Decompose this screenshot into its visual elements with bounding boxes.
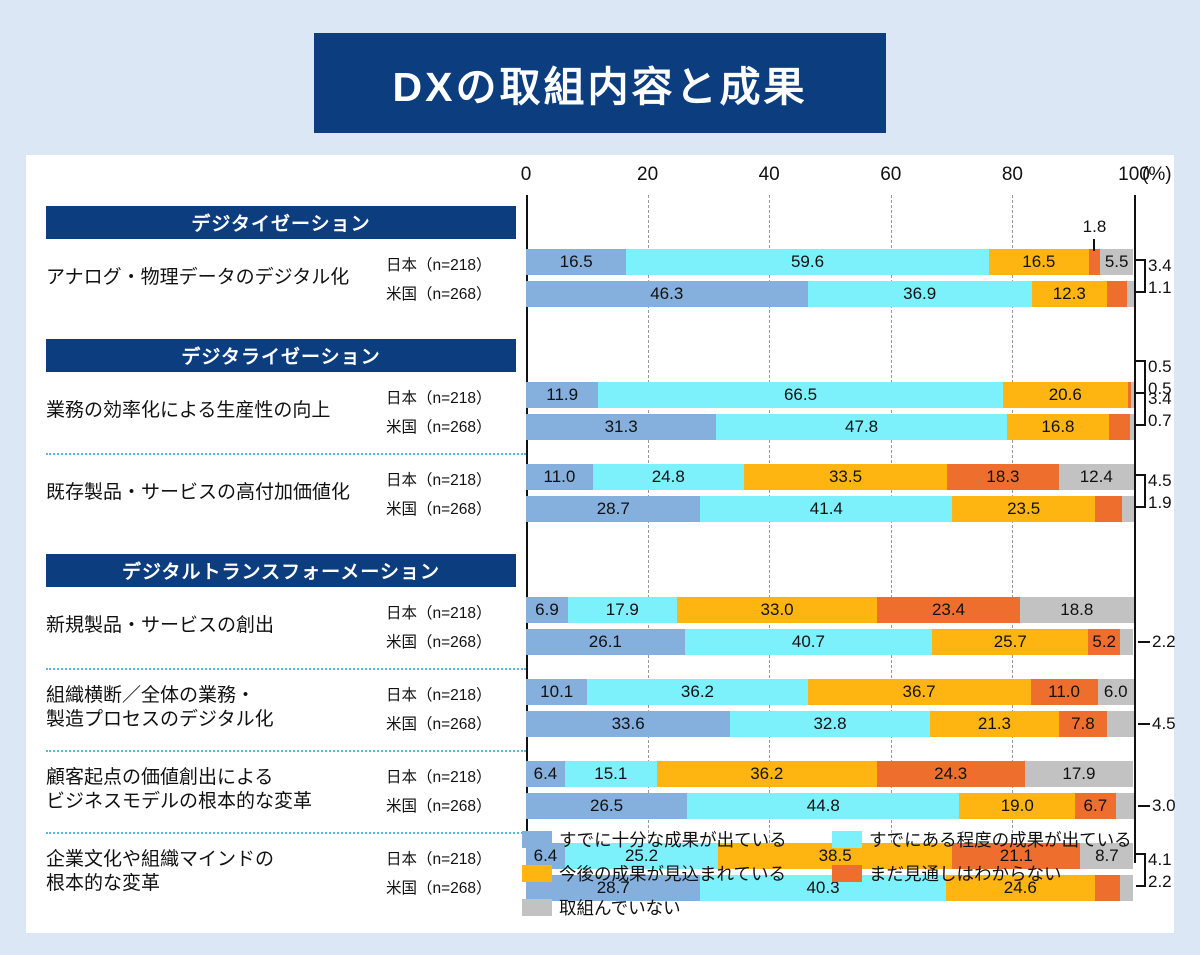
section-header-1: デジタイゼーション [46, 206, 516, 239]
row-separator [46, 832, 526, 834]
bar-segment [1107, 281, 1128, 307]
value-bracket [1136, 474, 1146, 508]
question-label-block: 企業文化や組織マインドの根本的な変革日本（n=218）米国（n=268） [46, 843, 516, 901]
group-labels: 日本（n=218）米国（n=268） [386, 601, 516, 652]
legend-swatch [832, 831, 862, 848]
bar-row: 28.741.423.5 [526, 496, 1136, 522]
group-label: 米国（n=268） [386, 497, 492, 519]
legend-swatch [522, 865, 552, 882]
chart-card: 020406080100(%) デジタイゼーションアナログ・物理データのデジタル… [26, 155, 1174, 933]
bar-segment: 26.1 [526, 629, 685, 655]
bar-segment [1131, 382, 1134, 408]
value-outside-label: 4.5 [1148, 471, 1172, 491]
bar-segment: 40.7 [685, 629, 932, 655]
bar-segment: 16.5 [526, 249, 626, 275]
leader-line [1138, 805, 1150, 807]
bar-segment: 36.9 [808, 281, 1032, 307]
bar-row: 33.632.821.37.8 [526, 711, 1136, 737]
legend-label: すでに十分な成果が出ている [559, 827, 787, 852]
page-title: DXの取組内容と成果 [393, 53, 808, 113]
value-outside-label: 1.9 [1148, 493, 1172, 513]
question-label: 組織横断／全体の業務・製造プロセスのデジタル化 [46, 684, 386, 733]
bar-segment [1120, 629, 1133, 655]
bar-segment: 5.5 [1100, 249, 1133, 275]
bar-segment: 12.4 [1059, 464, 1134, 490]
bar-segment: 6.9 [526, 597, 568, 623]
callout-stem [1093, 239, 1095, 251]
legend-item: 取組んでいない [522, 895, 832, 920]
bar-segment: 59.6 [626, 249, 988, 275]
legend-item: すでに十分な成果が出ている [522, 827, 832, 852]
value-outside-label: 0.7 [1148, 411, 1172, 431]
legend-swatch [522, 899, 552, 916]
bar-segment: 31.3 [526, 414, 716, 440]
question-label: 顧客起点の価値創出によるビジネスモデルの根本的な変革 [46, 766, 386, 815]
legend-item: すでにある程度の成果が出ている [832, 827, 1162, 852]
bar-row: 16.559.616.55.5 [526, 249, 1136, 275]
bar-segment: 26.5 [526, 793, 687, 819]
question-label-block: 新規製品・サービスの創出日本（n=218）米国（n=268） [46, 597, 516, 655]
group-label: 日本（n=218） [386, 601, 492, 623]
group-label: 米国（n=268） [386, 712, 492, 734]
bar-segment: 10.1 [526, 679, 587, 705]
chart-title-banner: DXの取組内容と成果 [314, 33, 886, 133]
value-outside-label: 2.2 [1138, 632, 1176, 652]
legend-swatch [522, 831, 552, 848]
bar-segment: 5.2 [1088, 629, 1120, 655]
bar-segment: 16.8 [1007, 414, 1109, 440]
legend-item: まだ見通しはわからない [832, 861, 1162, 886]
bar-segment: 20.6 [1003, 382, 1128, 408]
bar-segment: 24.8 [593, 464, 744, 490]
group-labels: 日本（n=218）米国（n=268） [386, 765, 516, 816]
group-label: 米国（n=268） [386, 415, 492, 437]
chart-legend: すでに十分な成果が出ているすでにある程度の成果が出ている今後の成果が見込まれてい… [522, 827, 1162, 920]
leader-line [1138, 723, 1150, 725]
bar-segment: 66.5 [598, 382, 1002, 408]
bar-segment [1116, 793, 1134, 819]
bar-segment: 6.7 [1075, 793, 1116, 819]
bar-segment: 28.7 [526, 496, 700, 522]
group-labels: 日本（n=218）米国（n=268） [386, 847, 516, 898]
bar-segment: 23.4 [877, 597, 1019, 623]
question-label: 既存製品・サービスの高付加価値化 [46, 481, 386, 505]
value-outside-label: 1.1 [1148, 278, 1172, 298]
question-label-block: 既存製品・サービスの高付加価値化日本（n=218）米国（n=268） [46, 464, 516, 522]
section-header-label: デジタルトランスフォーメーション [122, 557, 440, 584]
bar-segment: 32.8 [730, 711, 929, 737]
question-label-block: 組織横断／全体の業務・製造プロセスのデジタル化日本（n=218）米国（n=268… [46, 679, 516, 737]
bar-segment: 7.8 [1059, 711, 1106, 737]
bar-row: 6.415.136.224.317.9 [526, 761, 1136, 787]
section-header-3: デジタルトランスフォーメーション [46, 554, 516, 587]
group-label: 米国（n=268） [386, 794, 492, 816]
bar-segment: 6.4 [526, 761, 565, 787]
bar-segment [1122, 496, 1134, 522]
axis-tick-60: 60 [880, 164, 901, 186]
section-header-label: デジタライゼーション [181, 342, 380, 369]
group-label: 米国（n=268） [386, 282, 492, 304]
group-label: 米国（n=268） [386, 876, 492, 898]
value-outside-label: 3.4 [1148, 389, 1172, 409]
bar-segment: 25.7 [932, 629, 1088, 655]
bar-segment: 11.9 [526, 382, 598, 408]
bar-row: 46.336.912.3 [526, 281, 1136, 307]
bar-segment: 21.3 [930, 711, 1060, 737]
question-label: 企業文化や組織マインドの根本的な変革 [46, 848, 386, 897]
bar-row: 11.024.833.518.312.4 [526, 464, 1136, 490]
bar-segment [1107, 711, 1134, 737]
bar-segment: 47.8 [716, 414, 1007, 440]
bar-segment: 15.1 [565, 761, 657, 787]
value-outside-label: 0.5 [1148, 357, 1172, 377]
leader-line [1138, 641, 1150, 643]
group-labels: 日本（n=218）米国（n=268） [386, 253, 516, 304]
legend-label: 取組んでいない [559, 895, 681, 920]
row-separator [46, 668, 526, 670]
axis-tick-40: 40 [759, 164, 780, 186]
group-label: 日本（n=218） [386, 847, 492, 869]
group-label: 日本（n=218） [386, 386, 492, 408]
bar-segment: 17.9 [1025, 761, 1134, 787]
bar-segment: 12.3 [1032, 281, 1107, 307]
legend-swatch [832, 865, 862, 882]
question-label: アナログ・物理データのデジタル化 [46, 266, 386, 290]
group-label: 日本（n=218） [386, 765, 492, 787]
bar-segment: 11.0 [526, 464, 593, 490]
bar-segment: 19.0 [959, 793, 1075, 819]
question-label-block: アナログ・物理データのデジタル化日本（n=218）米国（n=268） [46, 249, 516, 307]
chart-page: DXの取組内容と成果 020406080100(%) デジタイゼーションアナログ… [0, 0, 1200, 955]
bar-segment: 36.7 [808, 679, 1031, 705]
group-label: 日本（n=218） [386, 253, 492, 275]
question-label: 新規製品・サービスの創出 [46, 614, 386, 638]
bar-segment: 24.3 [877, 761, 1025, 787]
bar-row: 26.140.725.75.2 [526, 629, 1136, 655]
bar-row: 31.347.816.8 [526, 414, 1136, 440]
legend-item: 今後の成果が見込まれている [522, 861, 832, 886]
bar-segment: 33.0 [677, 597, 878, 623]
axis-tick-0: 0 [521, 164, 532, 186]
axis-unit-label: (%) [1142, 164, 1172, 186]
bar-segment: 36.2 [657, 761, 877, 787]
row-separator [46, 453, 526, 455]
bar-segment: 23.5 [952, 496, 1095, 522]
bar-segment: 36.2 [587, 679, 807, 705]
value-bracket [1136, 360, 1146, 394]
bar-segment [1109, 414, 1130, 440]
bar-row: 26.544.819.06.7 [526, 793, 1136, 819]
question-label-block: 業務の効率化による生産性の向上日本（n=218）米国（n=268） [46, 382, 516, 440]
bar-row: 6.917.933.023.418.8 [526, 597, 1136, 623]
bar-segment: 18.8 [1020, 597, 1134, 623]
legend-label: 今後の成果が見込まれている [559, 861, 786, 886]
group-labels: 日本（n=218）米国（n=268） [386, 468, 516, 519]
row-separator [46, 750, 526, 752]
question-label: 業務の効率化による生産性の向上 [46, 399, 386, 423]
bar-row: 10.136.236.711.06.0 [526, 679, 1136, 705]
bar-segment: 18.3 [947, 464, 1058, 490]
bar-row: 11.966.520.6 [526, 382, 1136, 408]
bar-segment: 41.4 [700, 496, 952, 522]
group-label: 日本（n=218） [386, 468, 492, 490]
value-outside-label: 3.4 [1148, 256, 1172, 276]
bar-segment: 46.3 [526, 281, 808, 307]
bar-segment [1095, 496, 1122, 522]
bar-segment: 33.6 [526, 711, 730, 737]
value-bracket [1136, 392, 1146, 426]
bar-segment [1089, 249, 1100, 275]
bar-segment [1130, 414, 1134, 440]
value-bracket [1136, 259, 1146, 293]
group-label: 日本（n=218） [386, 683, 492, 705]
group-labels: 日本（n=218）米国（n=268） [386, 386, 516, 437]
bar-segment [1127, 281, 1134, 307]
bar-segment: 16.5 [989, 249, 1089, 275]
axis-tick-80: 80 [1002, 164, 1023, 186]
question-label-block: 顧客起点の価値創出によるビジネスモデルの根本的な変革日本（n=218）米国（n=… [46, 761, 516, 819]
bar-segment: 33.5 [744, 464, 948, 490]
bar-segment: 44.8 [687, 793, 959, 819]
bar-segment: 6.0 [1098, 679, 1134, 705]
value-outside-label: 3.0 [1138, 796, 1176, 816]
legend-label: まだ見通しはわからない [869, 861, 1062, 886]
axis-tick-20: 20 [637, 164, 658, 186]
legend-label: すでにある程度の成果が出ている [869, 827, 1132, 852]
section-header-2: デジタライゼーション [46, 339, 516, 372]
group-labels: 日本（n=218）米国（n=268） [386, 683, 516, 734]
bar-segment: 11.0 [1031, 679, 1098, 705]
bar-segment: 17.9 [568, 597, 677, 623]
value-outside-label: 4.5 [1138, 714, 1176, 734]
group-label: 米国（n=268） [386, 630, 492, 652]
value-callout: 1.8 [1083, 217, 1107, 237]
section-header-label: デジタイゼーション [191, 209, 370, 236]
